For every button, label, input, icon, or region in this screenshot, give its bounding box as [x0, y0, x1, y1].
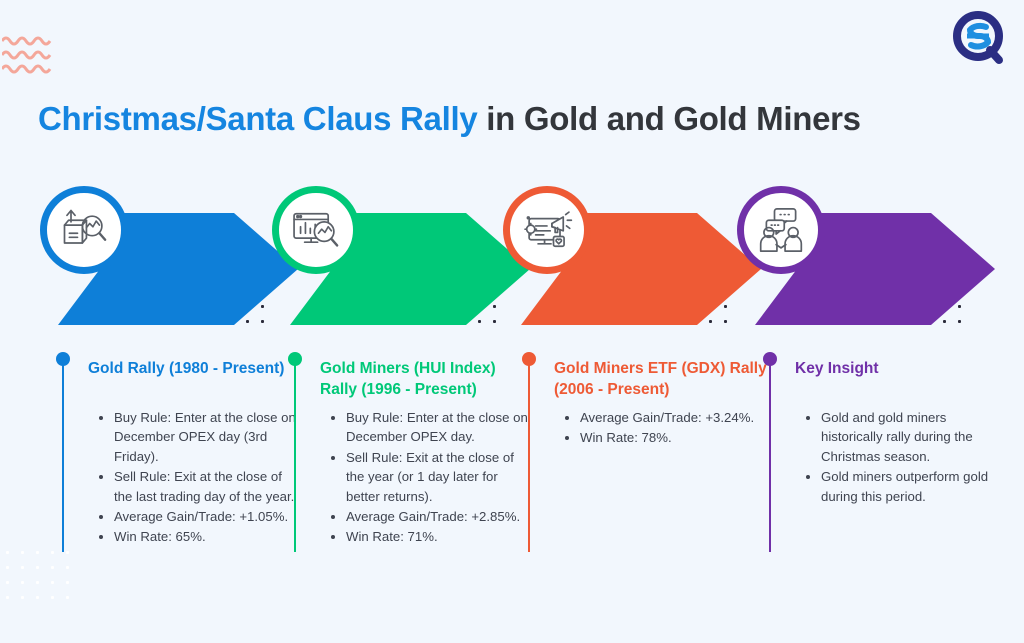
page-title: Christmas/Santa Claus Rally in Gold and …: [38, 100, 998, 138]
timeline-line: [62, 364, 64, 552]
timeline-rail: [56, 352, 70, 366]
chevron-step-4[interactable]: [737, 186, 999, 336]
bullet-item: Sell Rule: Exit at the close of the year…: [346, 448, 532, 506]
page-title-rest: in Gold and Gold Miners: [477, 100, 860, 137]
bullet-item: Average Gain/Trade: +1.05%.: [114, 507, 300, 526]
chevron-step-2[interactable]: [272, 186, 534, 336]
step-bullet-list: Average Gain/Trade: +3.24%.Win Rate: 78%…: [566, 408, 766, 449]
chevron-step-1[interactable]: [40, 186, 302, 336]
step-heading: Key Insight: [795, 358, 1011, 379]
bullet-item: Gold and gold miners historically rally …: [821, 408, 1007, 466]
bullet-item: Win Rate: 71%.: [346, 527, 532, 546]
step-heading: Gold Rally (1980 - Present): [88, 358, 304, 379]
step-bullet-list: Gold and gold miners historically rally …: [807, 408, 1007, 507]
timeline-rail: [522, 352, 536, 366]
timeline-rail: [288, 352, 302, 366]
chevron-step-3[interactable]: [503, 186, 765, 336]
bullet-item: Win Rate: 65%.: [114, 527, 300, 546]
bullet-item: Gold miners outperform gold during this …: [821, 467, 1007, 506]
bullet-item: Buy Rule: Enter at the close on December…: [346, 408, 532, 447]
timeline-line: [294, 364, 296, 552]
bullet-item: Win Rate: 78%.: [580, 428, 766, 447]
timeline-rail: [763, 352, 777, 366]
box-chart-magnifier-icon: [40, 186, 128, 274]
page-title-highlight: Christmas/Santa Claus Rally: [38, 100, 477, 137]
step-bullet-list: Buy Rule: Enter at the close on December…: [100, 408, 300, 548]
step-heading: Gold Miners (HUI Index) Rally (1996 - Pr…: [320, 358, 536, 400]
timeline-line: [528, 364, 530, 552]
people-speech-bubbles-icon: [737, 186, 825, 274]
sq-logo-icon: [946, 8, 1012, 70]
step-heading: Gold Miners ETF (GDX) Rally (2006 - Pres…: [554, 358, 770, 400]
monitor-barchart-magnifier-icon: [272, 186, 360, 274]
dot-grid-decoration-bottom-left: [0, 545, 78, 607]
bullet-item: Sell Rule: Exit at the close of the last…: [114, 467, 300, 506]
timeline-line: [769, 364, 771, 552]
bullet-item: Average Gain/Trade: +2.85%.: [346, 507, 532, 526]
infographic-canvas: Christmas/Santa Claus Rally in Gold and …: [0, 0, 1024, 643]
bullet-item: Buy Rule: Enter at the close on December…: [114, 408, 300, 466]
wave-decoration: [2, 34, 54, 78]
chevron-row: [0, 186, 1024, 336]
monitor-megaphone-gear-icon: [503, 186, 591, 274]
step-bullet-list: Buy Rule: Enter at the close on December…: [332, 408, 532, 548]
bullet-item: Average Gain/Trade: +3.24%.: [580, 408, 766, 427]
